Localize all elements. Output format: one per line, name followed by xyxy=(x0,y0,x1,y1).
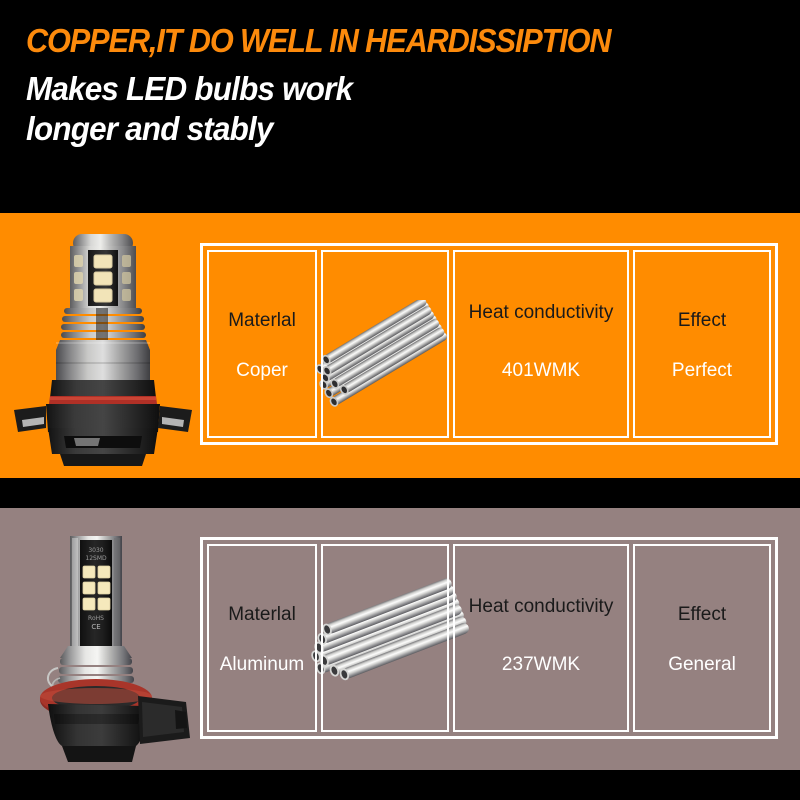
cell-value-conductivity: 401WMK xyxy=(502,360,580,382)
cell-head-conductivity: Heat conductivity xyxy=(469,302,614,324)
copper-spec-table: Materlal Coper Heat conductivity 401WMK … xyxy=(200,243,778,445)
aluminum-spec-table: Materlal Aluminum Heat conductivity 237W… xyxy=(200,537,778,739)
product-infographic: COPPER,IT DO WELL IN HEARDISSIPTION Make… xyxy=(0,0,800,800)
svg-text:3030: 3030 xyxy=(88,547,103,554)
cell-effect-aluminum: Effect General xyxy=(633,544,771,732)
cell-head-conductivity: Heat conductivity xyxy=(469,596,614,618)
cell-value-effect: General xyxy=(668,654,736,676)
cell-value-material: Coper xyxy=(236,360,288,382)
cell-material-aluminum: Materlal Aluminum xyxy=(207,544,317,732)
cell-material-copper: Materlal Coper xyxy=(207,250,317,438)
cell-value-effect: Perfect xyxy=(672,360,732,382)
cell-conductivity-aluminum: Heat conductivity 237WMK xyxy=(453,544,629,732)
cell-value-material: Aluminum xyxy=(220,654,304,676)
subtitle-line-2: longer and stably xyxy=(26,110,273,148)
subtitle-line-1: Makes LED bulbs work xyxy=(26,70,352,108)
header-banner: COPPER,IT DO WELL IN HEARDISSIPTION Make… xyxy=(0,0,800,213)
cell-head-material: Materlal xyxy=(228,604,296,626)
led-bulb-9005-image xyxy=(8,222,198,478)
section-divider xyxy=(0,478,800,508)
cell-head-effect: Effect xyxy=(678,310,726,332)
page-title: COPPER,IT DO WELL IN HEARDISSIPTION xyxy=(26,22,610,60)
footer-band xyxy=(0,770,800,800)
svg-text:12SMD: 12SMD xyxy=(85,555,107,562)
cell-conductivity-copper: Heat conductivity 401WMK xyxy=(453,250,629,438)
cell-tube-image-aluminum xyxy=(321,544,449,732)
led-bulb-h11-image: 3030 12SMD RoHS CE xyxy=(10,518,210,770)
svg-text:RoHS: RoHS xyxy=(88,615,104,622)
cell-head-effect: Effect xyxy=(678,604,726,626)
cell-tube-image-copper xyxy=(321,250,449,438)
cell-effect-copper: Effect Perfect xyxy=(633,250,771,438)
cell-head-material: Materlal xyxy=(228,310,296,332)
cell-value-conductivity: 237WMK xyxy=(502,654,580,676)
svg-text:CE: CE xyxy=(91,623,100,631)
